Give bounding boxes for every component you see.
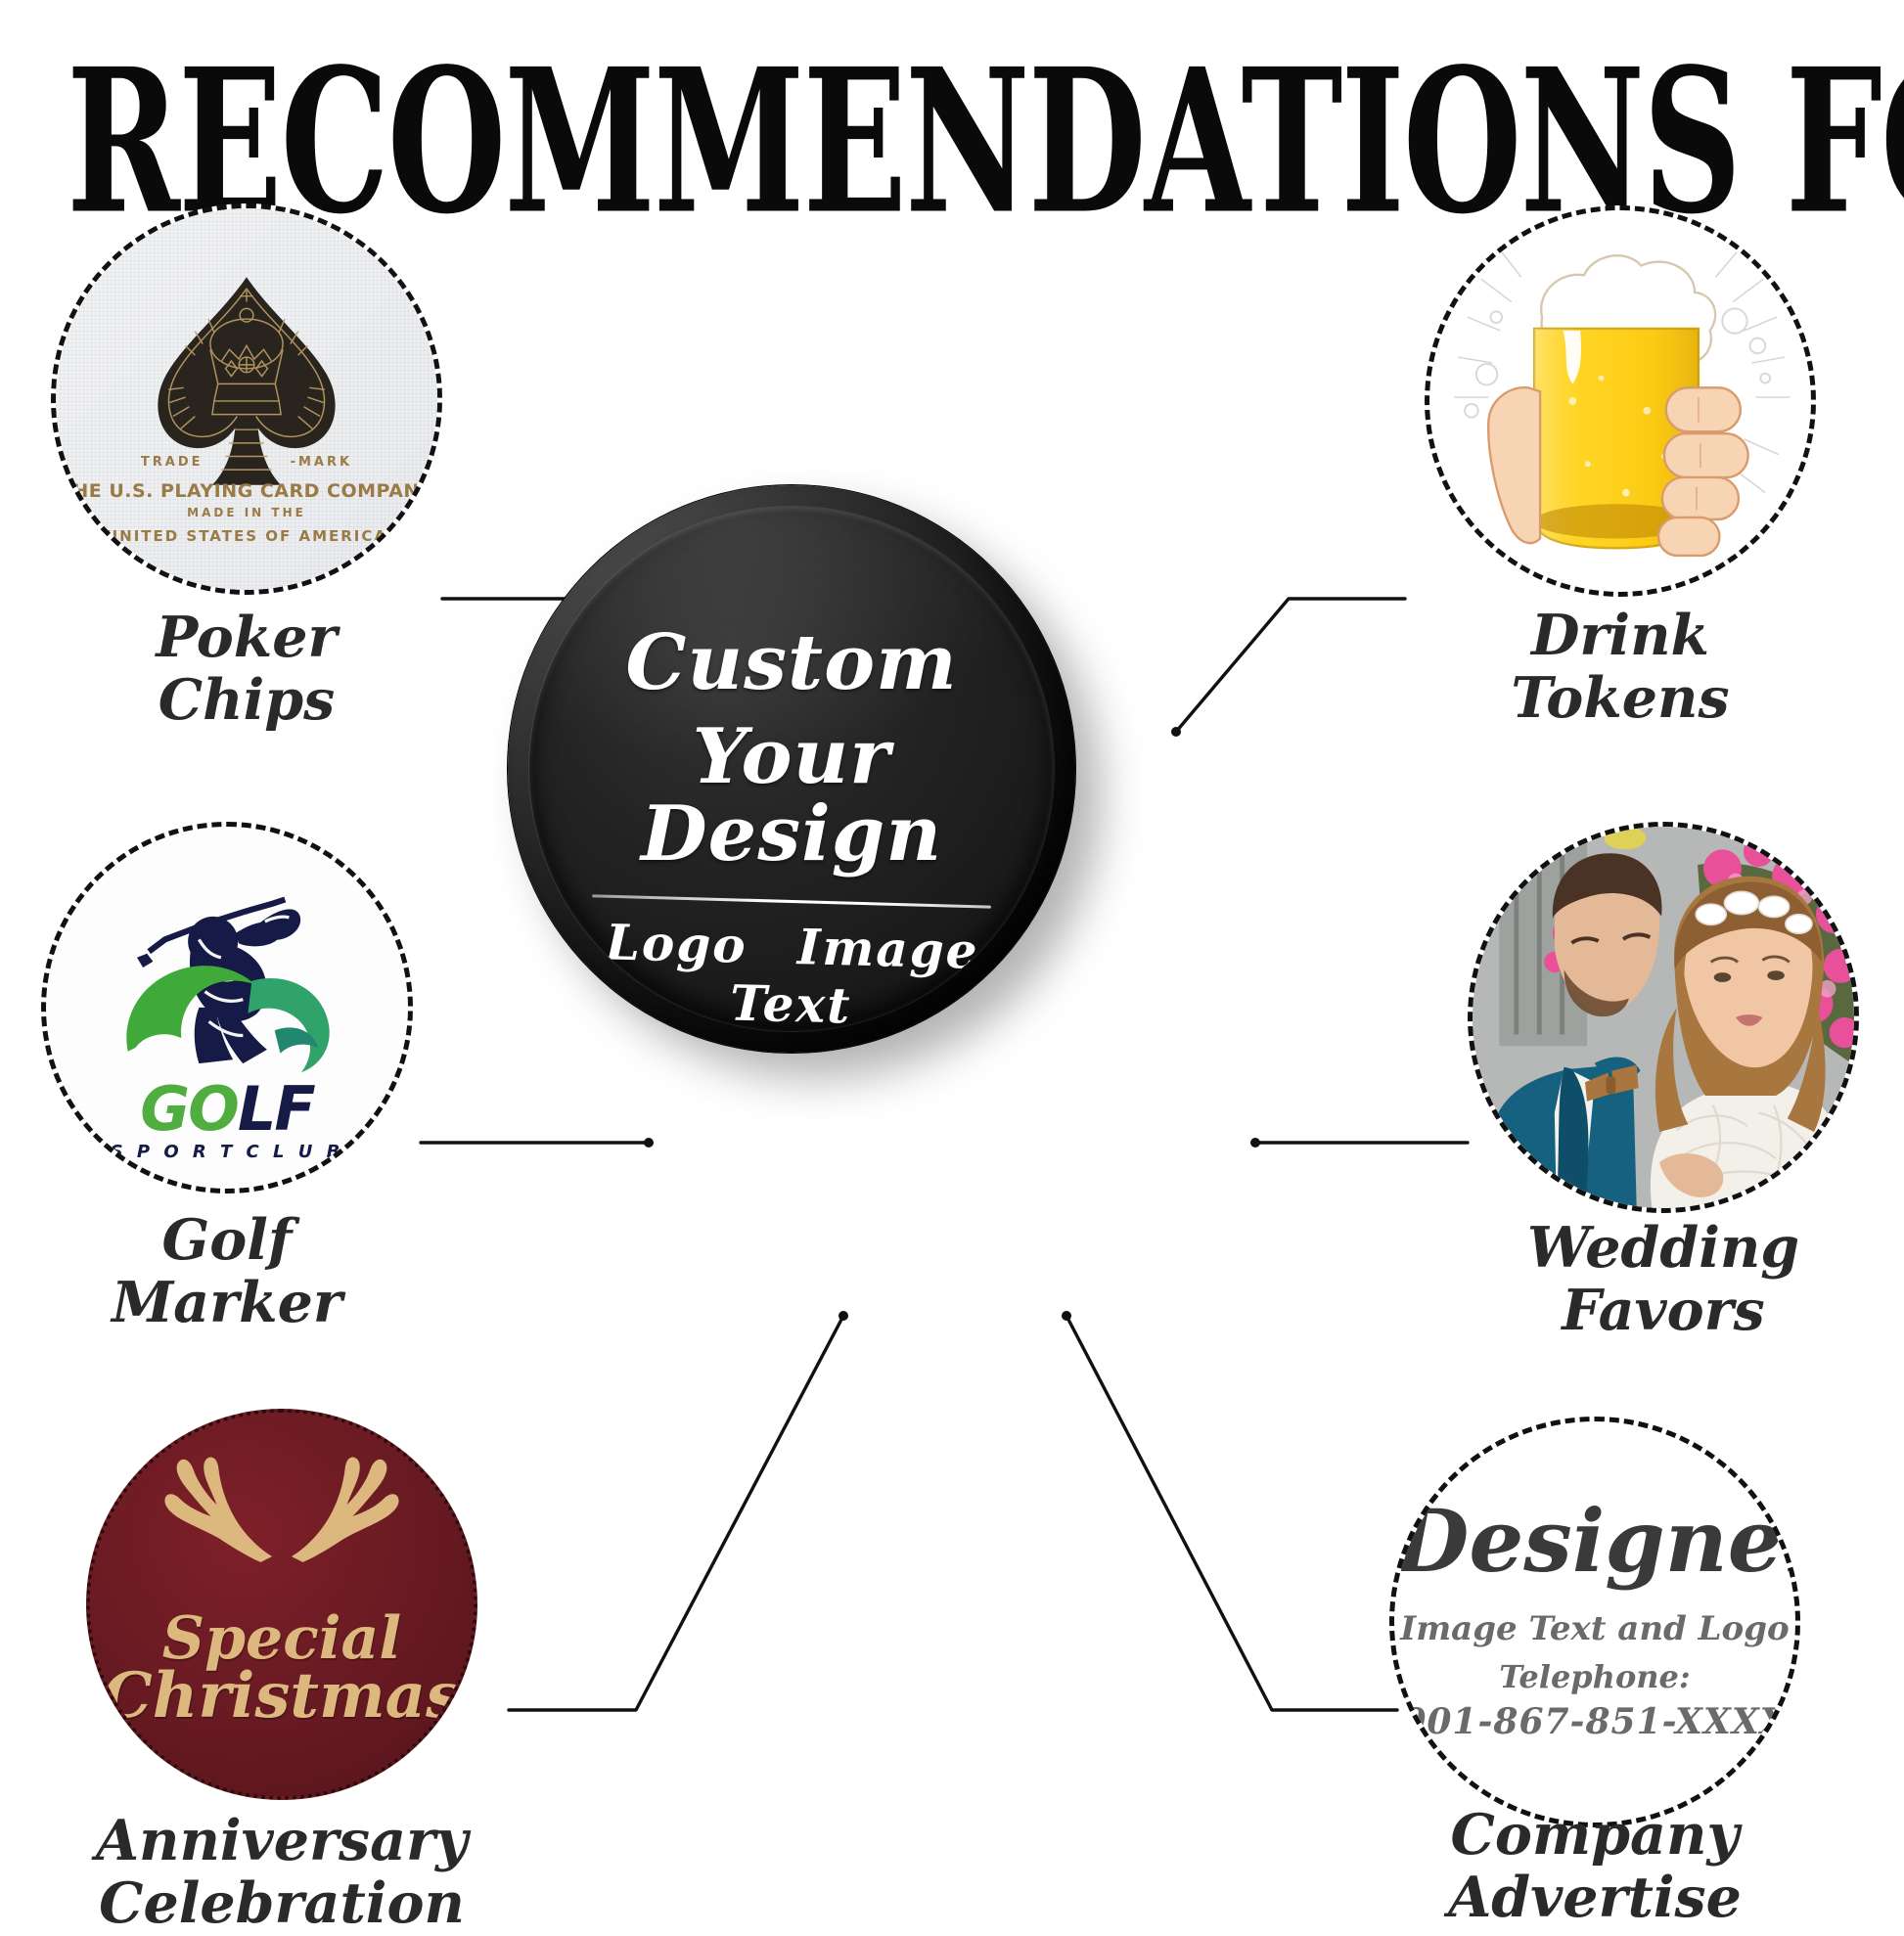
christmas-line2: Christmas	[90, 1659, 474, 1733]
node-drink-tokens[interactable]: Drink Tokens	[1425, 205, 1816, 597]
node-golf-marker[interactable]: GOLF S P O R T C L U B Golf Marker	[41, 822, 413, 1193]
wire-anniversary	[509, 1316, 843, 1710]
wire-company-advertise	[1066, 1316, 1397, 1710]
golf-word-part1: GO	[140, 1073, 238, 1145]
chip-headline-line2: Your Design	[529, 718, 1054, 874]
poker-trade-mark-row: TRADE -MARK	[56, 455, 437, 470]
designer-phone-number: 001-867-851-XXXX	[1394, 1701, 1795, 1742]
caption-line2: Tokens	[1511, 667, 1729, 730]
drink-token-art	[1425, 205, 1816, 597]
caption-drink-tokens: Drink Tokens	[1511, 605, 1729, 730]
caption-poker-chips: Poker Chips	[156, 607, 337, 732]
caption-golf-marker: Golf Marker	[112, 1209, 342, 1334]
chip-text-block: Custom Your Design	[529, 624, 1054, 874]
poker-chip-art: TRADE -MARK THE U.S. PLAYING CARD COMPAN…	[51, 203, 442, 595]
chip-divider-rule	[592, 894, 991, 908]
chip-sub-image: Image	[796, 918, 979, 980]
caption-line1: Poker	[156, 607, 337, 669]
christmas-chip-art: Special Christmas	[86, 1409, 477, 1800]
chip-subtitle: Logo Image Text	[529, 911, 1054, 1031]
caption-line1: Golf	[112, 1209, 342, 1272]
node-anniversary-celebration[interactable]: Special Christmas Anniversary Celebratio…	[86, 1409, 477, 1800]
caption-line2: Favors	[1527, 1280, 1799, 1342]
chip-headline-line1: Custom	[529, 624, 1054, 702]
caption-line1: Anniversary	[96, 1810, 468, 1872]
poker-company-name: THE U.S. PLAYING CARD COMPANY	[56, 480, 437, 502]
caption-line1: Drink	[1511, 605, 1729, 667]
designer-chip-art: Designer Image Text and Logo Telephone: …	[1389, 1417, 1800, 1827]
poker-mark-label: -MARK	[291, 455, 352, 470]
caption-anniversary-celebration: Anniversary Celebration	[96, 1810, 468, 1935]
node-poker-chips[interactable]: TRADE -MARK THE U.S. PLAYING CARD COMPAN…	[51, 203, 442, 595]
golf-tagline: S P O R T C L U B	[46, 1142, 408, 1162]
caption-line1: Wedding	[1527, 1217, 1799, 1280]
poker-made-in: MADE IN THE	[56, 506, 437, 519]
caption-line2: Marker	[112, 1272, 342, 1334]
designer-subtitle: Image Text and Logo	[1394, 1609, 1795, 1648]
node-wedding-favors[interactable]: Wedding Favors	[1468, 822, 1859, 1213]
center-product-chip[interactable]: Custom Your Design Logo Image Text	[508, 485, 1075, 1053]
chip-sub-logo: Logo	[605, 913, 748, 974]
caption-company-advertise: Company Advertise	[1448, 1804, 1742, 1929]
golf-marker-art: GOLF S P O R T C L U B	[41, 822, 413, 1193]
golf-word-part2: LF	[238, 1073, 314, 1145]
wire-drink-tokens	[1176, 599, 1405, 732]
designer-title: Designer	[1394, 1498, 1795, 1584]
beer-mug-icon	[1429, 210, 1811, 592]
chip-sub-text: Text	[729, 973, 852, 1031]
designer-phone-label: Telephone:	[1394, 1658, 1795, 1695]
wedding-photo-art	[1468, 822, 1859, 1213]
poker-country: UNITED STATES OF AMERICA	[56, 527, 437, 545]
caption-line2: Advertise	[1448, 1867, 1742, 1929]
caption-line2: Chips	[156, 669, 337, 732]
wedding-photo	[1473, 827, 1854, 1208]
chip-face: Custom Your Design Logo Image Text	[529, 507, 1054, 1031]
node-company-advertise[interactable]: Designer Image Text and Logo Telephone: …	[1389, 1417, 1800, 1827]
poker-trade-label: TRADE	[141, 455, 204, 470]
caption-line1: Company	[1448, 1804, 1742, 1867]
caption-wedding-favors: Wedding Favors	[1527, 1217, 1799, 1342]
golf-wordmark: GOLF	[46, 1079, 408, 1140]
